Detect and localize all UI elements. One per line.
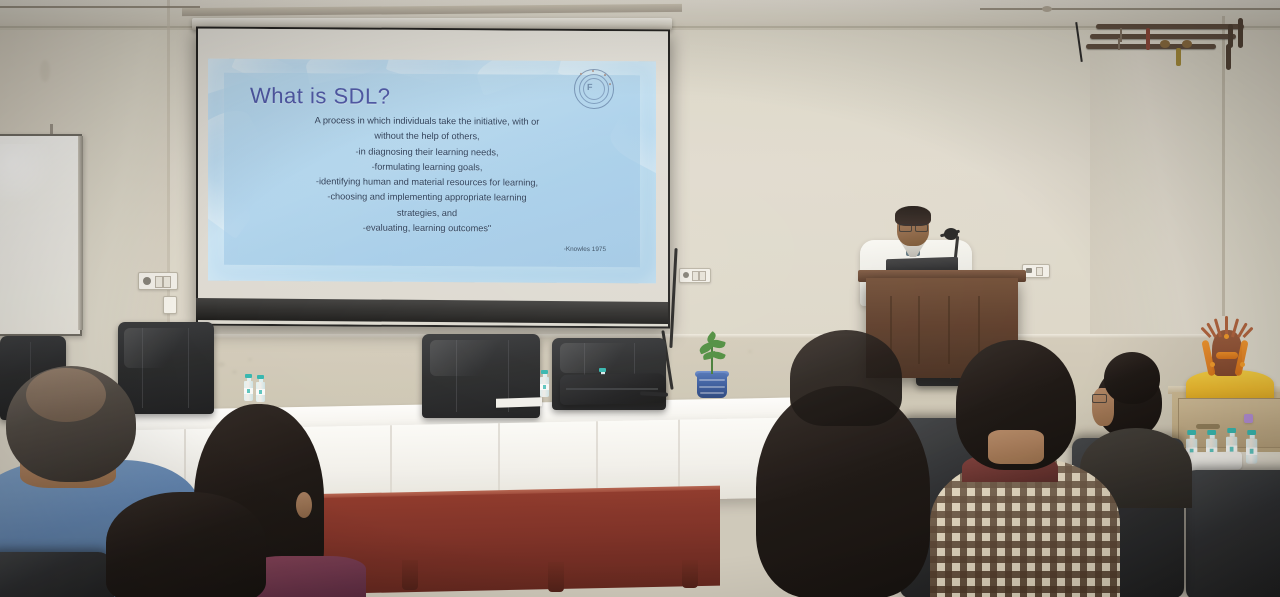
- socket-outlet: [143, 277, 151, 285]
- emblem-dot: [609, 83, 611, 85]
- whiteboard-side-edge: [78, 136, 83, 330]
- speaker-eyeglasses-icon: [899, 224, 912, 232]
- audience-head-behind: [790, 330, 902, 426]
- bottle-label-mark: [1250, 449, 1254, 454]
- chair-highlight: [124, 328, 208, 368]
- garland-flower: [1210, 362, 1215, 367]
- wall-mark: [218, 362, 225, 367]
- shrine-box-handle: [1196, 424, 1220, 429]
- pot-stripe: [699, 386, 725, 388]
- ceiling-pipe-middle: [1090, 34, 1236, 39]
- audience-head: [1104, 352, 1160, 404]
- pipe-valve-coupling: [1182, 40, 1192, 48]
- pot-stripe: [700, 392, 724, 394]
- chair-highlight: [430, 340, 530, 376]
- emblem-dot: [592, 70, 594, 72]
- ceiling-conduit: [980, 8, 1280, 10]
- table-leg: [682, 560, 698, 588]
- ceiling-conduit: [0, 6, 200, 8]
- emblem-mark: F: [587, 82, 593, 92]
- wall-socket-right[interactable]: [1022, 264, 1050, 278]
- wall-mark: [748, 350, 752, 353]
- ceiling-pipe-upper: [1096, 24, 1244, 29]
- potted-plant-pot: [697, 373, 727, 398]
- pot-stripe: [699, 379, 725, 381]
- projection-screen: What is SDL? F A process in which indivi…: [196, 27, 670, 329]
- garland-flower: [1224, 334, 1229, 339]
- ceiling-pipe-drop: [1226, 44, 1231, 70]
- pipe-valve-coupling: [1160, 40, 1170, 48]
- bottle-label-mark: [259, 390, 262, 394]
- pipe-valve-brass: [1176, 48, 1181, 66]
- slide-title: What is SDL?: [250, 83, 391, 110]
- wall-socket-left[interactable]: [138, 272, 178, 290]
- ceiling-pipe-riser-a: [1238, 18, 1243, 48]
- seminar-room-photo: What is SDL? F A process in which indivi…: [0, 0, 1280, 597]
- speaker-eyeglasses-icon: [915, 224, 928, 232]
- socket-switch[interactable]: [699, 271, 706, 281]
- socket-switch[interactable]: [1036, 267, 1043, 276]
- chair-back-left-1[interactable]: [118, 322, 214, 414]
- audience-neck: [988, 430, 1044, 464]
- ceiling-pipe-lower: [1086, 44, 1216, 49]
- whiteboard-glare: [0, 144, 54, 204]
- speaker-hair: [895, 206, 931, 226]
- audience-ear: [296, 492, 312, 518]
- audience-bald-crown: [26, 368, 106, 422]
- plant-stem: [711, 346, 713, 374]
- audience-chair-front-left[interactable]: [0, 552, 114, 597]
- table-leg: [548, 562, 564, 592]
- audience-chair-far-right[interactable]: [1186, 470, 1280, 597]
- institutional-emblem-icon: F: [574, 69, 614, 109]
- slide-attribution: -Knowles 1975: [564, 246, 606, 253]
- marigold-garland: [1216, 352, 1238, 359]
- slide-body-text: A process in which individuals take the …: [242, 113, 612, 238]
- wall-mark: [232, 370, 237, 374]
- socket-switch[interactable]: [163, 276, 171, 288]
- slide-line: -evaluating, learning outcomes": [242, 220, 612, 238]
- ceiling-fixture: [1042, 6, 1052, 12]
- wall-corner-right: [1222, 16, 1225, 316]
- pipe-hanger: [1118, 38, 1120, 50]
- papers-on-table[interactable]: [496, 397, 542, 408]
- audience-head: [106, 492, 266, 597]
- socket-cover-plate: [163, 296, 177, 314]
- chair-highlight: [560, 343, 656, 373]
- wall-socket-center[interactable]: [679, 268, 711, 283]
- socket-switch[interactable]: [155, 276, 163, 288]
- bottle-label-mark: [247, 389, 250, 393]
- pipe-hanger: [1120, 28, 1122, 42]
- screen-bottom-weight-bar: [196, 298, 668, 324]
- table-leg: [402, 560, 418, 590]
- pipe-valve-red: [1146, 28, 1150, 50]
- emblem-dot: [604, 74, 606, 76]
- projected-slide: What is SDL? F A process in which indivi…: [208, 59, 656, 284]
- socket-outlet: [683, 272, 689, 278]
- bottle-label-mark: [543, 385, 546, 389]
- socket-switch[interactable]: [692, 271, 699, 281]
- tissue-on-shelf: [1184, 451, 1242, 470]
- whiteboard: [0, 134, 82, 336]
- wall-mark: [40, 60, 50, 82]
- emblem-dot: [580, 73, 582, 75]
- shrine-box-sticker: [1244, 414, 1253, 423]
- podium-groove: [918, 296, 920, 364]
- bag-zipper: [566, 388, 658, 390]
- socket-outlet: [1026, 268, 1032, 273]
- podium-groove: [948, 296, 950, 364]
- audience-eyeglasses-icon: [1092, 394, 1107, 403]
- garland-flower: [1240, 362, 1245, 367]
- wall-mark: [248, 358, 252, 361]
